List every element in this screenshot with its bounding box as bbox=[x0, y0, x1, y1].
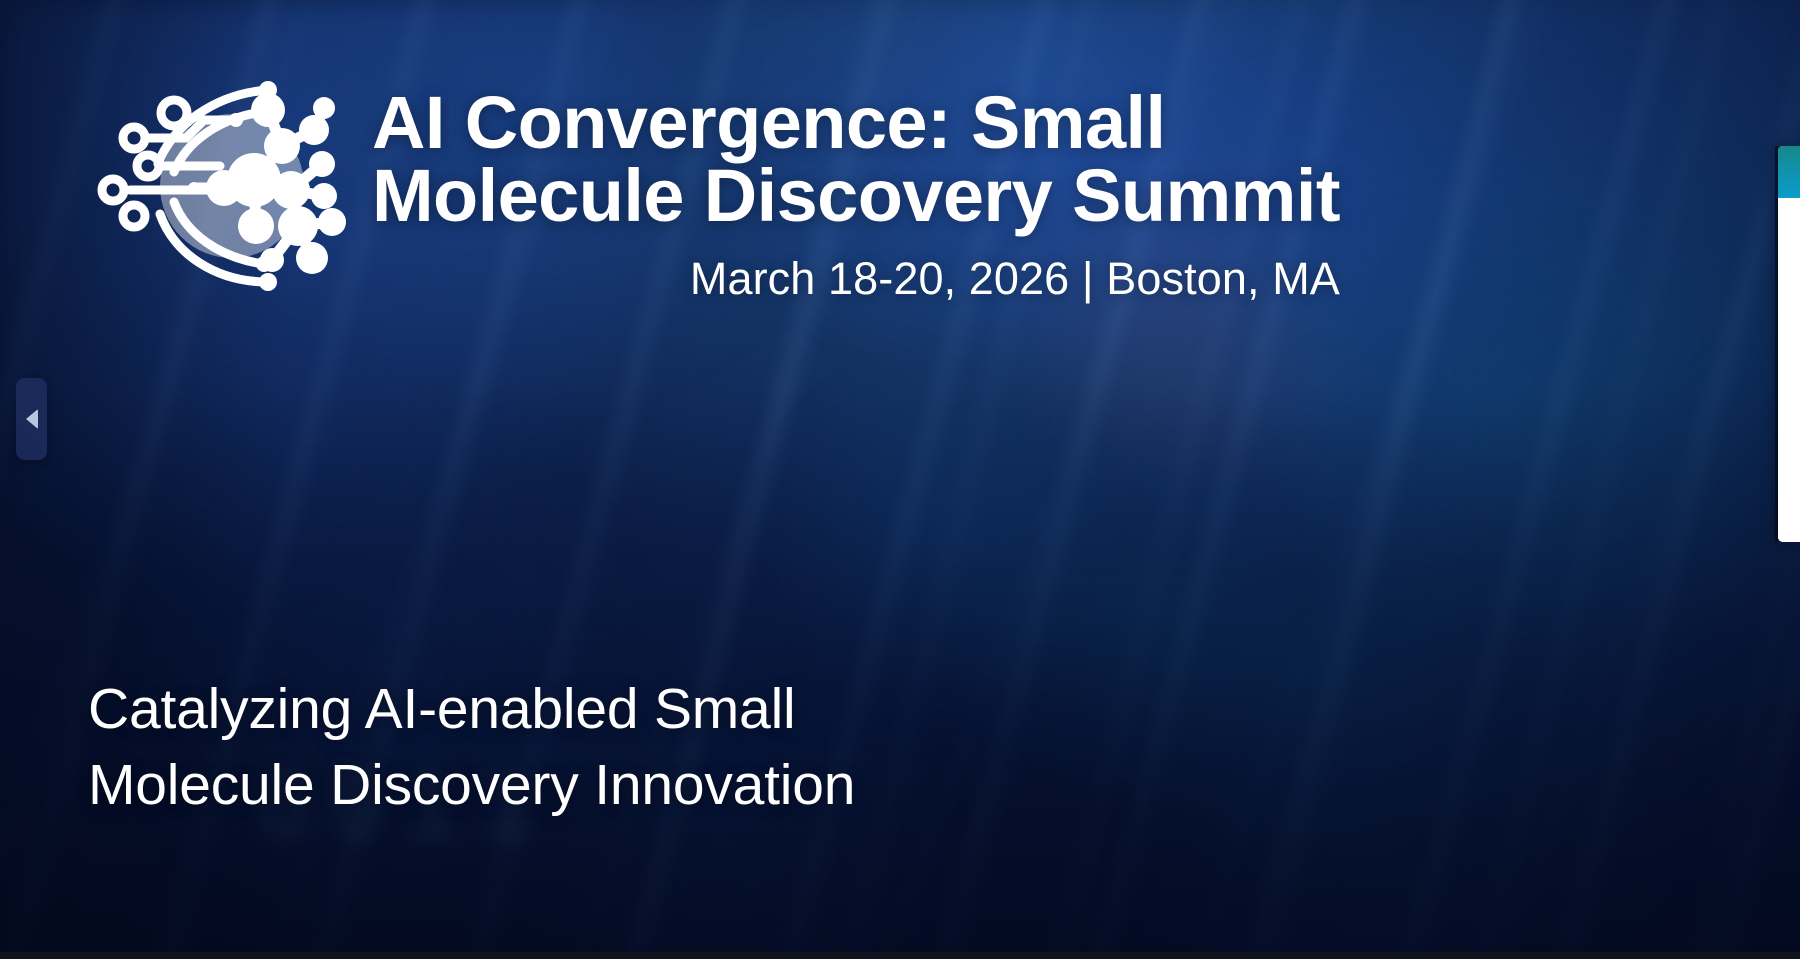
right-panel-accent-header bbox=[1778, 146, 1800, 198]
right-side-panel[interactable] bbox=[1778, 146, 1800, 542]
right-panel-body bbox=[1778, 198, 1800, 542]
circuit-molecule-logo-icon bbox=[86, 68, 354, 298]
bottom-strip bbox=[0, 952, 1800, 959]
hero-tagline: Catalyzing AI-enabled Small Molecule Dis… bbox=[88, 672, 855, 824]
event-header: AI Convergence: Small Molecule Discovery… bbox=[86, 62, 1340, 305]
chevron-left-icon bbox=[26, 409, 38, 429]
page-root: 0011 bbox=[0, 0, 1800, 959]
event-title: AI Convergence: Small Molecule Discovery… bbox=[372, 86, 1340, 233]
event-date-location: March 18-20, 2026 | Boston, MA bbox=[372, 253, 1340, 305]
sidebar-collapse-toggle[interactable] bbox=[16, 378, 47, 460]
title-block: AI Convergence: Small Molecule Discovery… bbox=[372, 62, 1340, 305]
